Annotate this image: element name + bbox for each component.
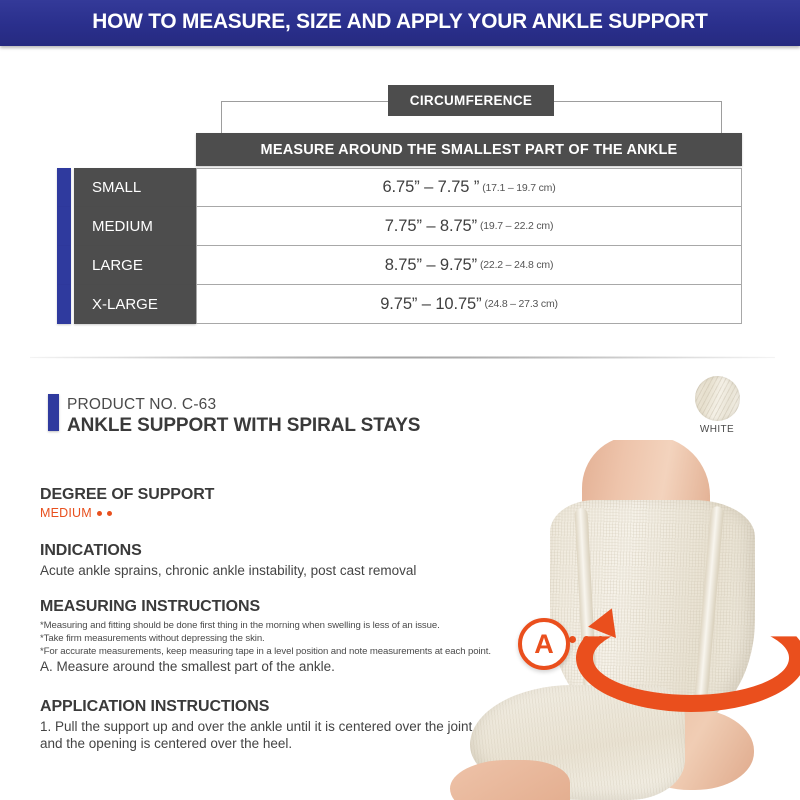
size-value-cm: (19.7 – 22.2 cm) bbox=[480, 220, 553, 232]
measuring-step-a: A. Measure around the smallest part of t… bbox=[40, 658, 335, 676]
degree-of-support-value-group: MEDIUM bbox=[40, 506, 112, 520]
size-value-cell: 6.75” – 7.75 ” (17.1 – 19.7 cm) bbox=[196, 168, 742, 207]
color-swatch-label: WHITE bbox=[688, 424, 746, 435]
size-value-inches: 8.75” – 9.75” bbox=[385, 256, 477, 275]
table-row: SMALL 6.75” – 7.75 ” (17.1 – 19.7 cm) bbox=[57, 168, 742, 207]
support-level-dot bbox=[97, 511, 102, 516]
fabric-swatch-icon bbox=[695, 376, 740, 421]
row-accent-bar bbox=[57, 168, 71, 207]
table-row: LARGE 8.75” – 9.75” (22.2 – 24.8 cm) bbox=[57, 246, 742, 285]
size-value-inches: 9.75” – 10.75” bbox=[380, 295, 481, 314]
size-table-column-header: MEASURE AROUND THE SMALLEST PART OF THE … bbox=[196, 133, 742, 166]
product-name: ANKLE SUPPORT WITH SPIRAL STAYS bbox=[67, 415, 420, 437]
measuring-instructions-heading: MEASURING INSTRUCTIONS bbox=[40, 598, 260, 616]
section-divider bbox=[30, 356, 775, 359]
page-title: HOW TO MEASURE, SIZE AND APPLY YOUR ANKL… bbox=[12, 9, 788, 34]
degree-of-support-value: MEDIUM bbox=[40, 506, 92, 520]
size-label: SMALL bbox=[74, 168, 196, 207]
product-number: PRODUCT NO. C-63 bbox=[67, 396, 216, 414]
table-row: X-LARGE 9.75” – 10.75” (24.8 – 27.3 cm) bbox=[57, 285, 742, 324]
application-step-1-continued: and the opening is centered over the hee… bbox=[40, 735, 292, 753]
application-instructions-heading: APPLICATION INSTRUCTIONS bbox=[40, 698, 269, 716]
size-label: X-LARGE bbox=[74, 285, 196, 324]
callout-lead-dots bbox=[569, 636, 604, 643]
size-value-cm: (22.2 – 24.8 cm) bbox=[480, 259, 553, 271]
size-value-inches: 6.75” – 7.75 ” bbox=[382, 178, 479, 197]
circumference-arrow-icon bbox=[576, 604, 772, 678]
indications-heading: INDICATIONS bbox=[40, 542, 142, 560]
size-label: LARGE bbox=[74, 246, 196, 285]
row-accent-bar bbox=[57, 285, 71, 324]
support-level-dot bbox=[107, 511, 112, 516]
size-value-cm: (24.8 – 27.3 cm) bbox=[485, 298, 558, 310]
table-row: MEDIUM 7.75” – 8.75” (19.7 – 22.2 cm) bbox=[57, 207, 742, 246]
lead-dot bbox=[569, 636, 576, 643]
size-value-inches: 7.75” – 8.75” bbox=[385, 217, 477, 236]
page-header-banner: HOW TO MEASURE, SIZE AND APPLY YOUR ANKL… bbox=[0, 0, 800, 46]
lead-dot bbox=[583, 636, 590, 643]
row-accent-bar bbox=[57, 246, 71, 285]
size-value-cm: (17.1 – 19.7 cm) bbox=[482, 182, 555, 194]
toes-shape bbox=[450, 760, 570, 800]
product-accent-bar bbox=[48, 394, 59, 431]
row-accent-bar bbox=[57, 207, 71, 246]
size-value-cell: 9.75” – 10.75” (24.8 – 27.3 cm) bbox=[196, 285, 742, 324]
application-step-1: 1. Pull the support up and over the ankl… bbox=[40, 718, 472, 736]
size-value-cell: 7.75” – 8.75” (19.7 – 22.2 cm) bbox=[196, 207, 742, 246]
degree-of-support-heading: DEGREE OF SUPPORT bbox=[40, 486, 214, 504]
size-table-rows: SMALL 6.75” – 7.75 ” (17.1 – 19.7 cm) ME… bbox=[57, 168, 742, 324]
size-label: MEDIUM bbox=[74, 207, 196, 246]
indications-text: Acute ankle sprains, chronic ankle insta… bbox=[40, 562, 416, 580]
callout-marker-a: A bbox=[518, 618, 570, 670]
lead-dot bbox=[597, 636, 604, 643]
color-swatch-group: WHITE bbox=[688, 376, 746, 435]
size-value-cell: 8.75” – 9.75” (22.2 – 24.8 cm) bbox=[196, 246, 742, 285]
circumference-label: CIRCUMFERENCE bbox=[388, 85, 554, 116]
